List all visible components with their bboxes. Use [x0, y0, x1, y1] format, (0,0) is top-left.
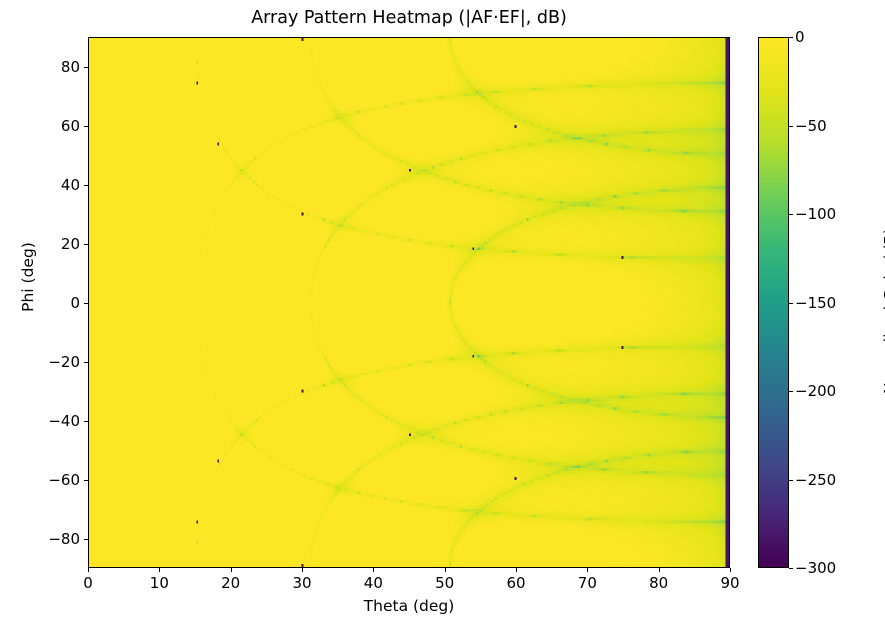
x-tick	[659, 568, 660, 572]
colorbar-tick-label: −250	[795, 471, 836, 489]
y-tick	[84, 303, 88, 304]
x-tick-label: 30	[292, 574, 311, 592]
colorbar-tick-label: −150	[795, 294, 836, 312]
x-tick	[445, 568, 446, 572]
heatmap-axes[interactable]	[88, 37, 730, 568]
colorbar-tick	[789, 126, 793, 127]
colorbar-tick-label: −200	[795, 382, 836, 400]
colorbar-tick-label: −50	[795, 117, 827, 135]
x-tick	[231, 568, 232, 572]
y-tick	[84, 362, 88, 363]
y-tick	[84, 421, 88, 422]
x-tick	[516, 568, 517, 572]
y-tick-label: 20	[61, 235, 80, 253]
heatmap-image	[89, 38, 729, 567]
chart-title: Array Pattern Heatmap (|AF·EF|, dB)	[88, 8, 730, 28]
colorbar-label: Normalized Gain (dB)	[881, 211, 885, 411]
x-tick-label: 40	[364, 574, 383, 592]
y-tick-label: 0	[70, 294, 80, 312]
colorbar-tick-label: 0	[795, 28, 805, 46]
colorbar-tick	[789, 391, 793, 392]
y-tick	[84, 185, 88, 186]
colorbar-tick-label: −100	[795, 205, 836, 223]
x-tick-label: 80	[649, 574, 668, 592]
x-tick	[587, 568, 588, 572]
y-axis-label: Phi (deg)	[19, 207, 37, 347]
y-tick-label: 80	[61, 58, 80, 76]
y-tick	[84, 244, 88, 245]
y-tick-label: 40	[61, 176, 80, 194]
colorbar-tick	[789, 37, 793, 38]
y-tick	[84, 67, 88, 68]
figure-canvas: Array Pattern Heatmap (|AF·EF|, dB) 0102…	[0, 0, 885, 637]
x-axis-label: Theta (deg)	[88, 597, 730, 615]
colorbar-tick	[789, 303, 793, 304]
x-tick	[159, 568, 160, 572]
y-tick-label: −20	[48, 353, 80, 371]
x-tick-label: 0	[83, 574, 93, 592]
colorbar[interactable]	[758, 37, 789, 568]
y-tick-label: 60	[61, 117, 80, 135]
x-tick-label: 60	[506, 574, 525, 592]
colorbar-tick-label: −300	[795, 559, 836, 577]
colorbar-tick	[789, 568, 793, 569]
x-tick-label: 50	[435, 574, 454, 592]
y-tick-label: −40	[48, 412, 80, 430]
y-tick-label: −60	[48, 471, 80, 489]
colorbar-tick	[789, 214, 793, 215]
colorbar-gradient	[759, 38, 788, 567]
y-tick	[84, 480, 88, 481]
x-tick-label: 20	[221, 574, 240, 592]
x-tick	[730, 568, 731, 572]
x-tick-label: 90	[720, 574, 739, 592]
x-tick	[373, 568, 374, 572]
y-tick-label: −80	[48, 530, 80, 548]
y-tick	[84, 539, 88, 540]
y-tick	[84, 126, 88, 127]
colorbar-tick	[789, 480, 793, 481]
x-tick-label: 70	[578, 574, 597, 592]
x-tick-label: 10	[150, 574, 169, 592]
x-tick	[88, 568, 89, 572]
x-tick	[302, 568, 303, 572]
